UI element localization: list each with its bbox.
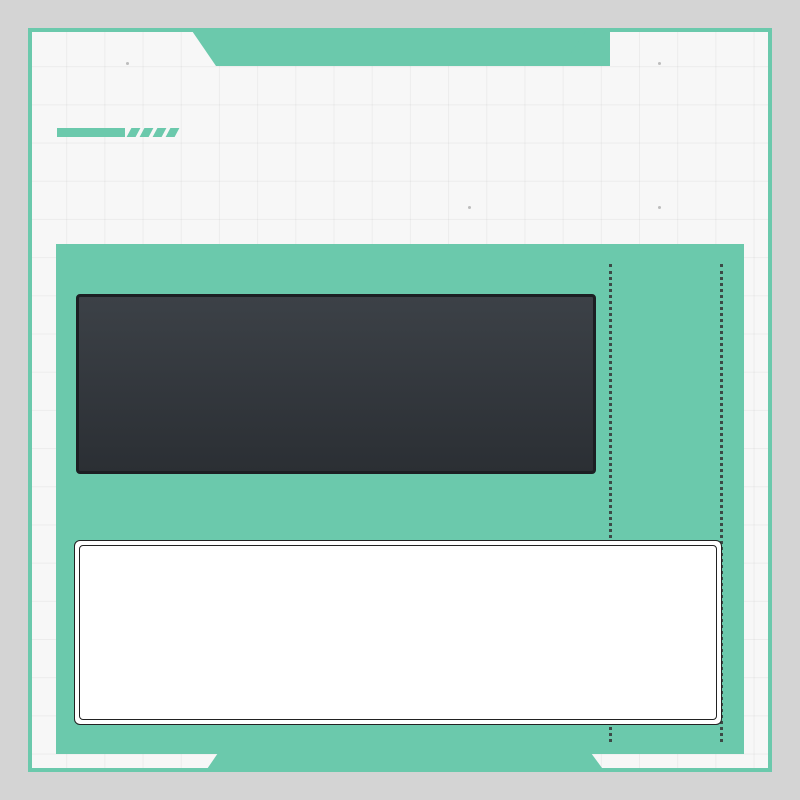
frame-band-top-taper [380,28,588,66]
keyboard-104-plate [79,545,717,720]
keyboard-94-keys[interactable] [76,294,596,474]
poster-root [0,0,800,800]
divider-bar [57,128,125,137]
grid-dot [126,62,129,65]
title-divider [57,128,177,137]
divider-slash [140,128,154,137]
divider-slash [127,128,141,137]
product-showcase-card [56,244,744,754]
keyboard-104-keys[interactable] [74,540,722,725]
grid-dot [658,206,661,209]
grid-dot [468,206,471,209]
frame-edge-bottom-left [28,768,213,772]
frame-edge-right [768,28,772,772]
frame-edge-left [28,28,32,772]
divider-slash [153,128,167,137]
indicator-led-bar [522,552,702,576]
grid-dot [658,62,661,65]
frame-edge-bottom-right [587,768,772,772]
